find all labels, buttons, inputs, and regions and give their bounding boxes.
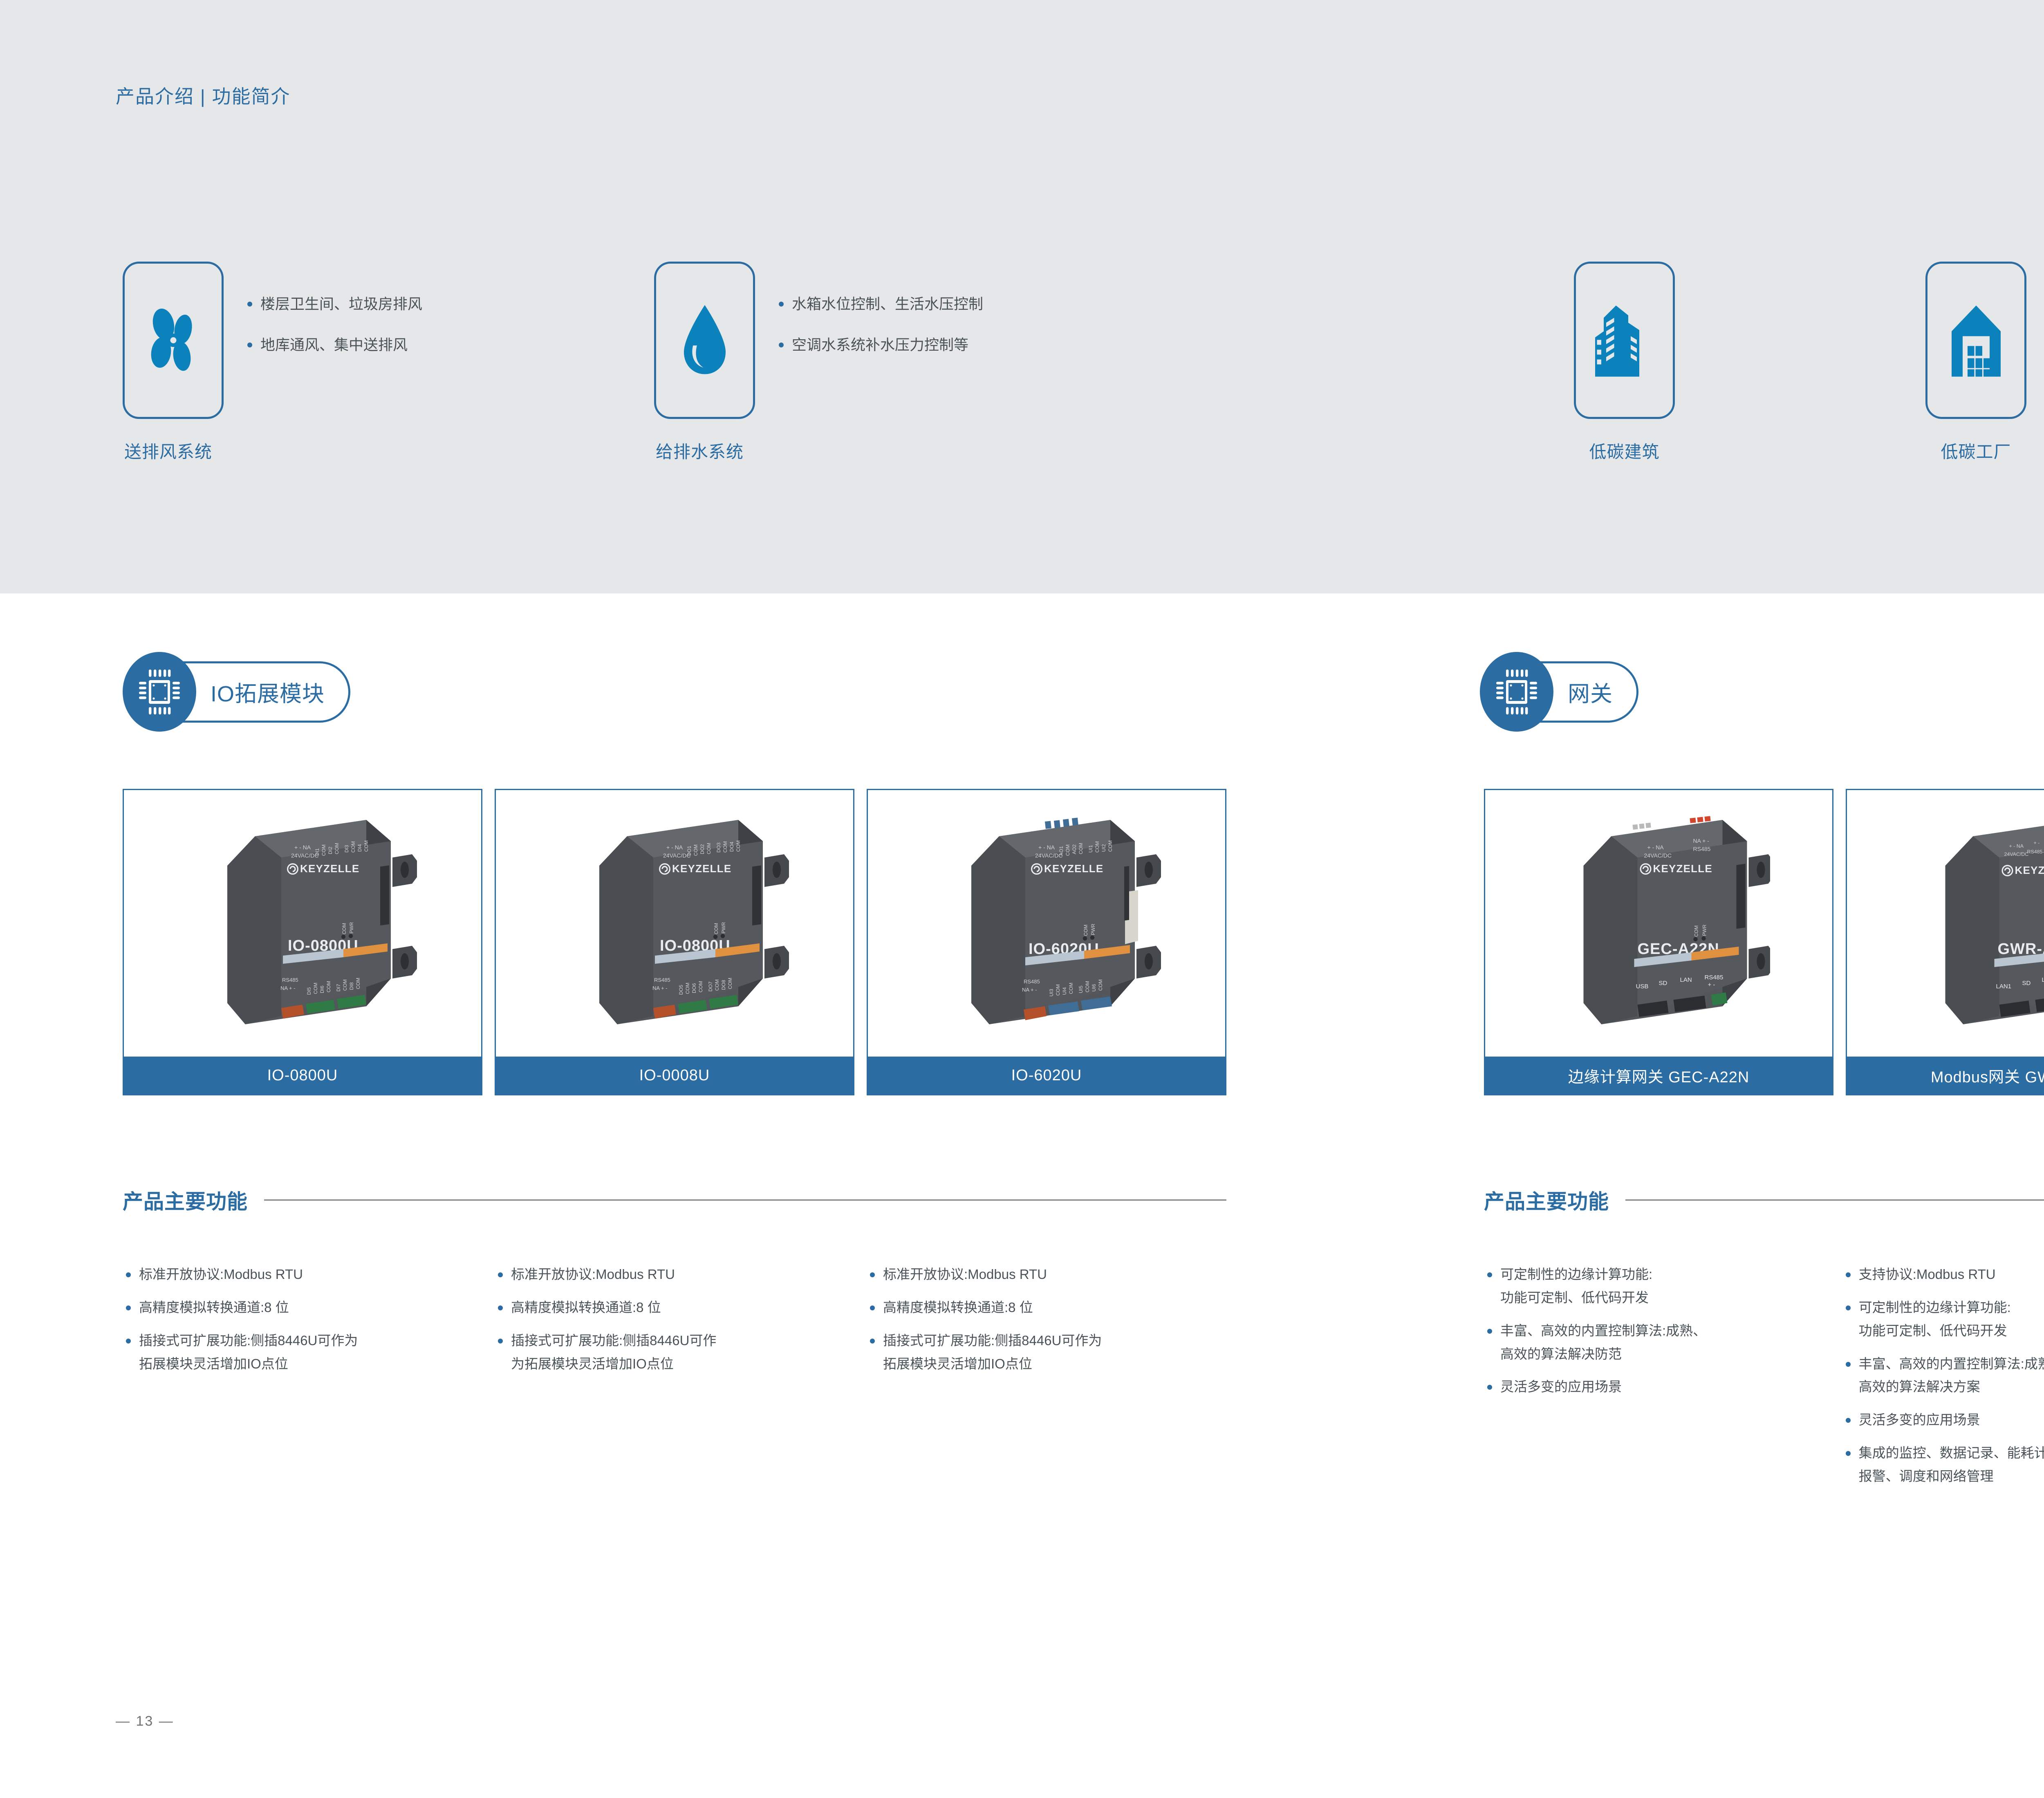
svg-text:COM: COM bbox=[693, 844, 699, 856]
svg-text:COM: COM bbox=[1094, 841, 1100, 853]
features-column: 标准开放协议:Modbus RTU 高精度模拟转换通道:8 位 插接式可扩展功能… bbox=[495, 1265, 854, 1387]
fan-icon bbox=[143, 305, 204, 376]
svg-text:SD: SD bbox=[1659, 980, 1667, 987]
svg-text:DO7: DO7 bbox=[708, 981, 713, 992]
fan-icon-box bbox=[123, 262, 224, 419]
svg-text:+ - NA: + - NA bbox=[294, 844, 311, 851]
svg-text:DO4: DO4 bbox=[729, 842, 735, 852]
svg-text:UI4: UI4 bbox=[1062, 987, 1067, 995]
list-item: 丰富、高效的内置控制算法:成熟、高效的算法解决方案 bbox=[1842, 1355, 2044, 1397]
product-card[interactable]: + - NA 24VAC/DC DO1 COM DO2 COM DO3 COM … bbox=[495, 789, 854, 1095]
list-item: 高精度模拟转换通道:8 位 bbox=[867, 1298, 1226, 1317]
svg-text:LAN: LAN bbox=[1680, 976, 1692, 983]
product-caption: IO-0800U bbox=[124, 1057, 481, 1094]
svg-text:+ - NA: + - NA bbox=[1038, 844, 1055, 851]
svg-text:COM: COM bbox=[1098, 979, 1103, 991]
svg-text:DO3: DO3 bbox=[716, 842, 722, 853]
svg-text:KEYZELLE: KEYZELLE bbox=[300, 862, 359, 875]
list-item: 楼层卫生间、垃圾房排风 bbox=[244, 293, 563, 316]
svg-text:COM: COM bbox=[685, 983, 690, 994]
svg-text:24VAC/DC: 24VAC/DC bbox=[1644, 852, 1672, 859]
gateway-product-cards: + - NA 24VAC/DC NA + - RS485 KEYZELLE GE… bbox=[1484, 789, 2044, 1095]
svg-text:COM: COM bbox=[355, 978, 361, 989]
chip-icon bbox=[138, 668, 181, 716]
scenario-bullets: 水箱水位控制、生活水压控制 空调水系统补水压力控制等 bbox=[775, 293, 1094, 374]
io-product-cards: + - NA 24VAC/DC DI1 COM DI2 COM DI3 COM … bbox=[123, 789, 1226, 1095]
svg-text:PWR: PWR bbox=[1702, 925, 1708, 936]
svg-text:DO6: DO6 bbox=[691, 983, 697, 993]
list-item: 插接式可扩展功能:侧插8446U可作为拓展模块灵活增加IO点位 bbox=[495, 1331, 854, 1374]
svg-text:+ - NA: + - NA bbox=[1647, 844, 1664, 851]
list-item: 高精度模拟转换通道:8 位 bbox=[123, 1298, 482, 1317]
svg-text:24VAC/DC: 24VAC/DC bbox=[2004, 851, 2029, 857]
product-caption: 边缘计算网关 GEC-A22N bbox=[1485, 1057, 1832, 1094]
svg-text:UI2: UI2 bbox=[1101, 844, 1107, 852]
svg-text:COM: COM bbox=[326, 981, 332, 992]
product-caption: IO-6020U bbox=[868, 1057, 1225, 1094]
svg-text:COM: COM bbox=[334, 843, 340, 854]
svg-text:AO2: AO2 bbox=[1071, 844, 1077, 854]
svg-text:NA + -: NA + - bbox=[280, 985, 296, 991]
svg-text:DI3: DI3 bbox=[344, 845, 350, 853]
list-item: 标准开放协议:Modbus RTU bbox=[495, 1265, 854, 1284]
svg-text:COM: COM bbox=[1083, 925, 1089, 936]
svg-text:COM: COM bbox=[321, 844, 327, 856]
page-header-left: 产品介绍 | 功能简介 bbox=[116, 82, 291, 109]
svg-text:SD: SD bbox=[2022, 980, 2031, 987]
features-title: 产品主要功能 bbox=[123, 1185, 248, 1215]
brochure-page: 产品介绍 | 功能简介 产品介绍 | 功能简介 楼层卫生间、垃圾房排风 地库通风… bbox=[0, 0, 2044, 1798]
svg-text:DI2: DI2 bbox=[327, 846, 333, 854]
svg-text:COM: COM bbox=[313, 983, 318, 994]
svg-text:KEYZELLE: KEYZELLE bbox=[2015, 864, 2044, 876]
svg-text:DO5: DO5 bbox=[678, 985, 684, 995]
features-heading-io: 产品主要功能 bbox=[123, 1185, 1226, 1215]
svg-text:DO1: DO1 bbox=[686, 846, 692, 856]
svg-text:RS485: RS485 bbox=[282, 977, 298, 983]
product-card[interactable]: + - NA + - + - + - + - 24VAC/DC RS485-2 … bbox=[1846, 789, 2044, 1095]
heading-rule bbox=[1625, 1199, 2044, 1201]
features-column: 可定制性的边缘计算功能:功能可定制、低代码开发 丰富、高效的内置控制算法:成熟、… bbox=[1484, 1265, 1830, 1500]
product-image: + - NA 24VAC/DC DO1 COM DO2 COM DO3 COM … bbox=[496, 790, 853, 1057]
svg-text:COM: COM bbox=[1107, 840, 1113, 852]
svg-text:COM: COM bbox=[1055, 984, 1061, 996]
scenario-label: 送排风系统 bbox=[124, 438, 212, 463]
factory-icon-box bbox=[1925, 262, 2026, 419]
chip-icon bbox=[1495, 668, 1538, 716]
svg-text:DI5: DI5 bbox=[306, 987, 312, 995]
svg-text:+ - NA: + - NA bbox=[666, 844, 683, 851]
device-io-0008u-image: + - NA 24VAC/DC DO1 COM DO2 COM DO3 COM … bbox=[560, 807, 789, 1040]
application-low-carbon-building: 低碳建筑 bbox=[1574, 262, 1675, 419]
svg-text:USB: USB bbox=[1636, 983, 1649, 990]
device-gwr-a25n-image: + - NA + - + - + - + - 24VAC/DC RS485-2 … bbox=[1909, 807, 2044, 1040]
list-item: 高精度模拟转换通道:8 位 bbox=[495, 1298, 854, 1317]
scenario-water: 水箱水位控制、生活水压控制 空调水系统补水压力控制等 给排水系统 bbox=[654, 262, 755, 419]
svg-text:PWR: PWR bbox=[349, 922, 354, 934]
list-item: 可定制性的边缘计算功能:功能可定制、低代码开发 bbox=[1484, 1265, 1830, 1308]
svg-text:DO8: DO8 bbox=[721, 980, 726, 990]
water-drop-icon-box bbox=[654, 262, 755, 419]
device-io-6020u-image: + - NA 24VAC/DC AO1 COM AO2 COM UI1 COM … bbox=[932, 807, 1161, 1040]
list-item: 灵活多变的应用场景 bbox=[1484, 1377, 1830, 1397]
badge-io-module: IO拓展模块 bbox=[123, 652, 350, 732]
svg-text:UI5: UI5 bbox=[1078, 985, 1084, 993]
svg-text:COM: COM bbox=[698, 981, 704, 992]
chip-icon-circle bbox=[1480, 652, 1553, 732]
svg-text:COM: COM bbox=[342, 979, 348, 991]
badge-label: 网关 bbox=[1568, 676, 1613, 708]
svg-text:COM: COM bbox=[350, 841, 356, 853]
list-item: 灵活多变的应用场景 bbox=[1842, 1411, 2044, 1430]
features-columns-gateway: 可定制性的边缘计算功能:功能可定制、低代码开发 丰富、高效的内置控制算法:成熟、… bbox=[1484, 1265, 2044, 1500]
svg-text:+ -: + - bbox=[1708, 981, 1715, 988]
page-number-left: — 13 — bbox=[116, 1713, 174, 1729]
svg-text:KEYZELLE: KEYZELLE bbox=[1044, 862, 1103, 875]
list-item: 插接式可扩展功能:侧插8446U可作为拓展模块灵活增加IO点位 bbox=[867, 1331, 1226, 1374]
heading-rule bbox=[264, 1199, 1226, 1201]
svg-text:COM: COM bbox=[722, 841, 728, 853]
list-item: 可定制性的边缘计算功能:功能可定制、低代码开发 bbox=[1842, 1298, 2044, 1341]
badge-gateway: 网关 bbox=[1480, 652, 1638, 732]
svg-text:COM: COM bbox=[1078, 843, 1084, 854]
badge-label: IO拓展模块 bbox=[211, 676, 325, 708]
device-io-0800u-image: + - NA 24VAC/DC DI1 COM DI2 COM DI3 COM … bbox=[188, 807, 417, 1040]
factory-icon bbox=[1945, 302, 2007, 379]
svg-text:DI8: DI8 bbox=[349, 982, 354, 990]
svg-text:DI4: DI4 bbox=[357, 844, 363, 852]
chip-icon-circle bbox=[123, 652, 196, 732]
svg-text:UI1: UI1 bbox=[1088, 845, 1094, 853]
product-image: + - NA 24VAC/DC NA + - RS485 KEYZELLE GE… bbox=[1485, 790, 1832, 1057]
svg-text:DI7: DI7 bbox=[336, 984, 341, 992]
list-item: 标准开放协议:Modbus RTU bbox=[123, 1265, 482, 1284]
application-label: 低碳建筑 bbox=[1589, 438, 1659, 463]
device-gec-a22n-image: + - NA 24VAC/DC NA + - RS485 KEYZELLE GE… bbox=[1547, 807, 1770, 1040]
features-title: 产品主要功能 bbox=[1484, 1185, 1609, 1215]
svg-text:AO1: AO1 bbox=[1058, 846, 1064, 856]
product-image: + - NA 24VAC/DC AO1 COM AO2 COM UI1 COM … bbox=[868, 790, 1225, 1057]
list-item: 水箱水位控制、生活水压控制 bbox=[775, 293, 1094, 316]
svg-text:COM: COM bbox=[363, 840, 369, 852]
svg-text:RS485: RS485 bbox=[654, 977, 670, 983]
svg-text:COM: COM bbox=[341, 923, 347, 934]
product-image: + - NA + - + - + - + - 24VAC/DC RS485-2 … bbox=[1847, 790, 2044, 1057]
list-item: 空调水系统补水压力控制等 bbox=[775, 334, 1094, 356]
features-column: 标准开放协议:Modbus RTU 高精度模拟转换通道:8 位 插接式可扩展功能… bbox=[867, 1265, 1226, 1387]
product-card[interactable]: + - NA 24VAC/DC AO1 COM AO2 COM UI1 COM … bbox=[867, 789, 1226, 1095]
svg-text:COM: COM bbox=[713, 923, 719, 934]
product-caption: IO-0008U bbox=[496, 1057, 853, 1094]
svg-text:RS485-2: RS485-2 bbox=[2027, 849, 2044, 855]
product-image: + - NA 24VAC/DC DI1 COM DI2 COM DI3 COM … bbox=[124, 790, 481, 1057]
svg-text:PWR: PWR bbox=[721, 922, 726, 934]
features-column: 支持协议:Modbus RTU 可定制性的边缘计算功能:功能可定制、低代码开发 … bbox=[1842, 1265, 2044, 1500]
svg-text:COM: COM bbox=[706, 843, 712, 854]
svg-text:KEYZELLE: KEYZELLE bbox=[672, 862, 731, 875]
svg-text:+ - NA: + - NA bbox=[2009, 843, 2024, 849]
svg-text:RS485: RS485 bbox=[1024, 978, 1040, 985]
application-low-carbon-factory: 低碳工厂 bbox=[1925, 262, 2026, 419]
scenario-label: 给排水系统 bbox=[656, 438, 744, 463]
application-label: 低碳工厂 bbox=[1941, 438, 2011, 463]
product-card[interactable]: + - NA 24VAC/DC DI1 COM DI2 COM DI3 COM … bbox=[123, 789, 482, 1095]
svg-text:NA + -: NA + - bbox=[1693, 837, 1710, 844]
svg-text:NA + -: NA + - bbox=[1022, 987, 1037, 993]
svg-text:COM: COM bbox=[1085, 981, 1090, 992]
office-buildings-icon-box bbox=[1574, 262, 1675, 419]
svg-text:+ -: + - bbox=[2034, 840, 2040, 846]
product-card[interactable]: + - NA 24VAC/DC NA + - RS485 KEYZELLE GE… bbox=[1484, 789, 1833, 1095]
svg-text:RS485: RS485 bbox=[1705, 974, 1724, 981]
svg-text:COM: COM bbox=[1694, 925, 1699, 937]
svg-text:COM: COM bbox=[1065, 844, 1071, 856]
list-item: 丰富、高效的内置控制算法:成熟、高效的算法解决防范 bbox=[1484, 1321, 1830, 1364]
svg-text:KEYZELLE: KEYZELLE bbox=[1653, 862, 1712, 875]
features-columns-io: 标准开放协议:Modbus RTU 高精度模拟转换通道:8 位 插接式可扩展功能… bbox=[123, 1265, 1251, 1387]
scenario-ventilation: 楼层卫生间、垃圾房排风 地库通风、集中送排风 送排风系统 bbox=[123, 262, 224, 419]
list-item: 标准开放协议:Modbus RTU bbox=[867, 1265, 1226, 1284]
features-column: 标准开放协议:Modbus RTU 高精度模拟转换通道:8 位 插接式可扩展功能… bbox=[123, 1265, 482, 1387]
svg-text:LAN2: LAN2 bbox=[2042, 976, 2044, 983]
svg-text:DI6: DI6 bbox=[319, 985, 325, 993]
svg-text:NA + -: NA + - bbox=[652, 985, 668, 991]
features-heading-gateway: 产品主要功能 bbox=[1484, 1185, 2044, 1215]
svg-text:PWR: PWR bbox=[1090, 924, 1096, 935]
svg-text:COM: COM bbox=[714, 979, 720, 991]
list-item: 支持协议:Modbus RTU bbox=[1842, 1265, 2044, 1284]
svg-text:UI6: UI6 bbox=[1091, 984, 1097, 992]
product-caption: Modbus网关 GWR-A25N bbox=[1847, 1057, 2044, 1094]
svg-text:COM: COM bbox=[1068, 983, 1074, 994]
svg-text:LAN1: LAN1 bbox=[1996, 983, 2012, 990]
svg-text:UI3: UI3 bbox=[1049, 989, 1054, 996]
svg-text:DO2: DO2 bbox=[699, 844, 705, 854]
water-drop-icon bbox=[678, 302, 731, 378]
scenario-bullets: 楼层卫生间、垃圾房排风 地库通风、集中送排风 bbox=[244, 293, 563, 374]
svg-text:RS485: RS485 bbox=[1693, 846, 1711, 852]
list-item: 集成的监控、数据记录、能耗计量、报警、调度和网络管理 bbox=[1842, 1444, 2044, 1486]
list-item: 地库通风、集中送排风 bbox=[244, 334, 563, 356]
list-item: 插接式可扩展功能:侧插8446U可作为拓展模块灵活增加IO点位 bbox=[123, 1331, 482, 1374]
office-buildings-icon bbox=[1594, 302, 1655, 379]
svg-text:COM: COM bbox=[727, 978, 733, 989]
svg-text:DI1: DI1 bbox=[314, 848, 320, 856]
svg-text:COM: COM bbox=[735, 840, 741, 852]
